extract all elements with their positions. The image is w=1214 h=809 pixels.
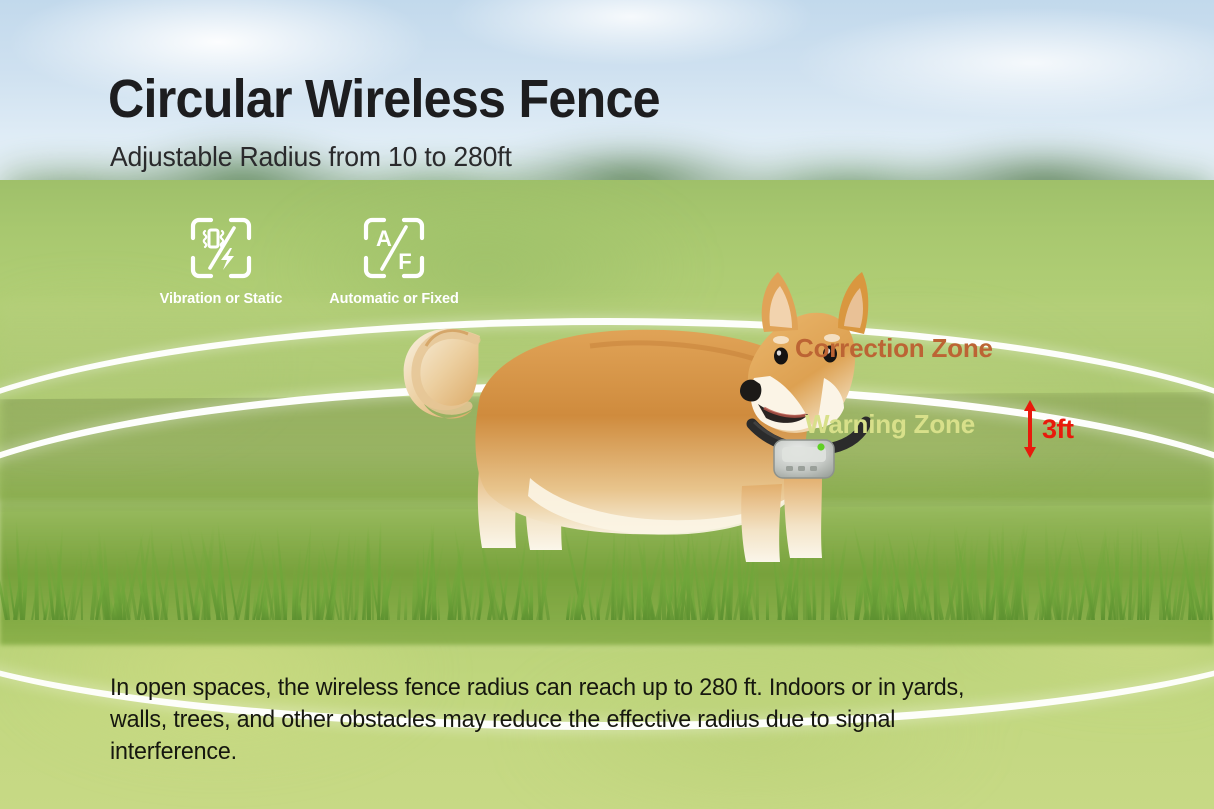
feature-letter-top: A (376, 226, 392, 251)
feature-label: Automatic or Fixed (306, 291, 482, 307)
page-subtitle: Adjustable Radius from 10 to 280ft (110, 141, 512, 173)
collar-receiver-unit (774, 440, 834, 478)
correction-zone-label: Correction Zone (795, 333, 993, 364)
feature-vibration-or-static: Vibration or Static (133, 216, 309, 307)
height-marker-label: 3ft (1042, 414, 1074, 445)
height-marker: 3ft (1020, 398, 1074, 460)
vibration-or-static-icon (189, 216, 253, 280)
automatic-or-fixed-icon: A F (362, 216, 426, 280)
description-paragraph: In open spaces, the wireless fence radiu… (110, 672, 1012, 768)
product-infographic: Circular Wireless Fence Adjustable Radiu… (0, 0, 1214, 809)
dog-tail (404, 329, 480, 419)
feature-label: Vibration or Static (133, 291, 309, 307)
page-title: Circular Wireless Fence (108, 72, 660, 126)
feature-letter-bottom: F (398, 249, 411, 274)
double-arrow-icon (1020, 398, 1040, 460)
feature-automatic-or-fixed: A F Automatic or Fixed (306, 216, 482, 307)
warning-zone-label: Warning Zone (805, 409, 975, 440)
